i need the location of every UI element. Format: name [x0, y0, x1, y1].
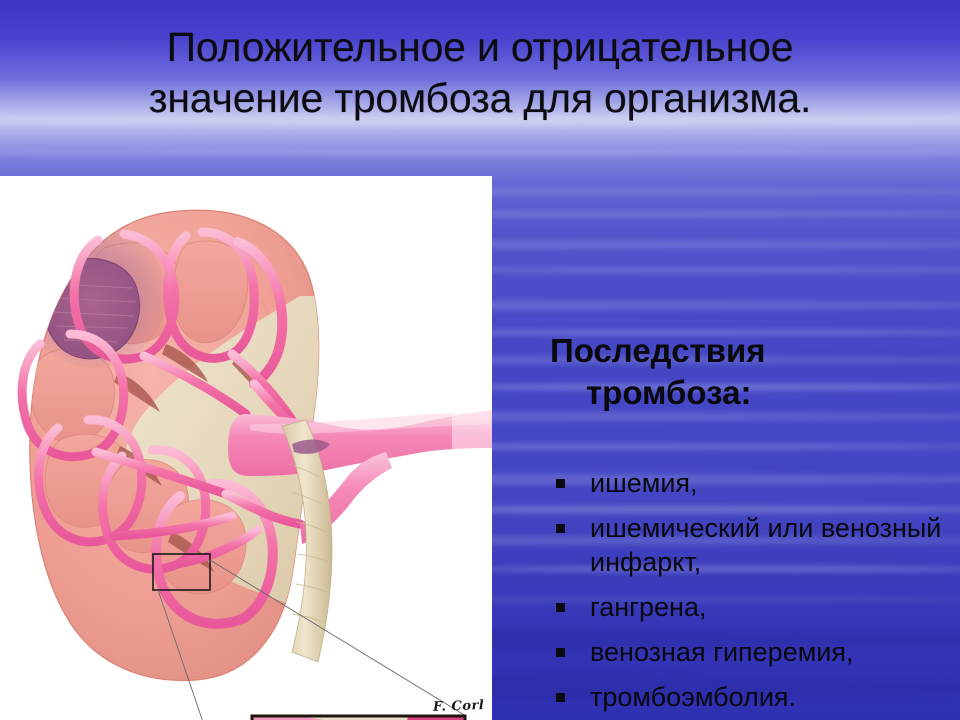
consequences-list: ишемия, ишемический или венозный инфаркт… — [548, 466, 948, 714]
section-heading: Последствия тромбоза: — [550, 288, 948, 456]
artist-signature: F. Corl — [432, 698, 484, 715]
kidney-diagram-svg — [0, 176, 492, 720]
kidney-illustration-panel: F. Corl — [0, 176, 492, 720]
bullet-square-icon — [556, 693, 565, 702]
content-column: Последствия тромбоза: ишемия, ишемически… — [548, 288, 948, 720]
bullet-square-icon — [556, 603, 565, 612]
slide-canvas: Положительное и отрицательное значение т… — [0, 0, 960, 720]
list-item-label: ишемия, — [590, 468, 698, 498]
bullet-square-icon — [556, 524, 565, 533]
section-heading-line1: Последствия — [550, 332, 766, 369]
streak — [0, 150, 960, 155]
list-item-label: венозная гиперемия, — [590, 637, 853, 667]
list-item: венозная гиперемия, — [548, 635, 948, 669]
thrombus-inset — [252, 715, 466, 720]
page-title: Положительное и отрицательное значение т… — [0, 22, 960, 124]
bullet-square-icon — [556, 648, 565, 657]
list-item-label: гангрена, — [590, 592, 707, 622]
list-item: тромбоэмболия. — [548, 680, 948, 714]
list-item: ишемический или венозный инфаркт, — [548, 511, 948, 579]
section-heading-line2: тромбоза: — [550, 372, 948, 414]
list-item: гангрена, — [548, 590, 948, 624]
list-item: ишемия, — [548, 466, 948, 500]
bullet-square-icon — [556, 479, 565, 488]
list-item-label: тромбоэмболия. — [590, 682, 796, 712]
list-item-label: ишемический или венозный инфаркт, — [590, 513, 941, 577]
